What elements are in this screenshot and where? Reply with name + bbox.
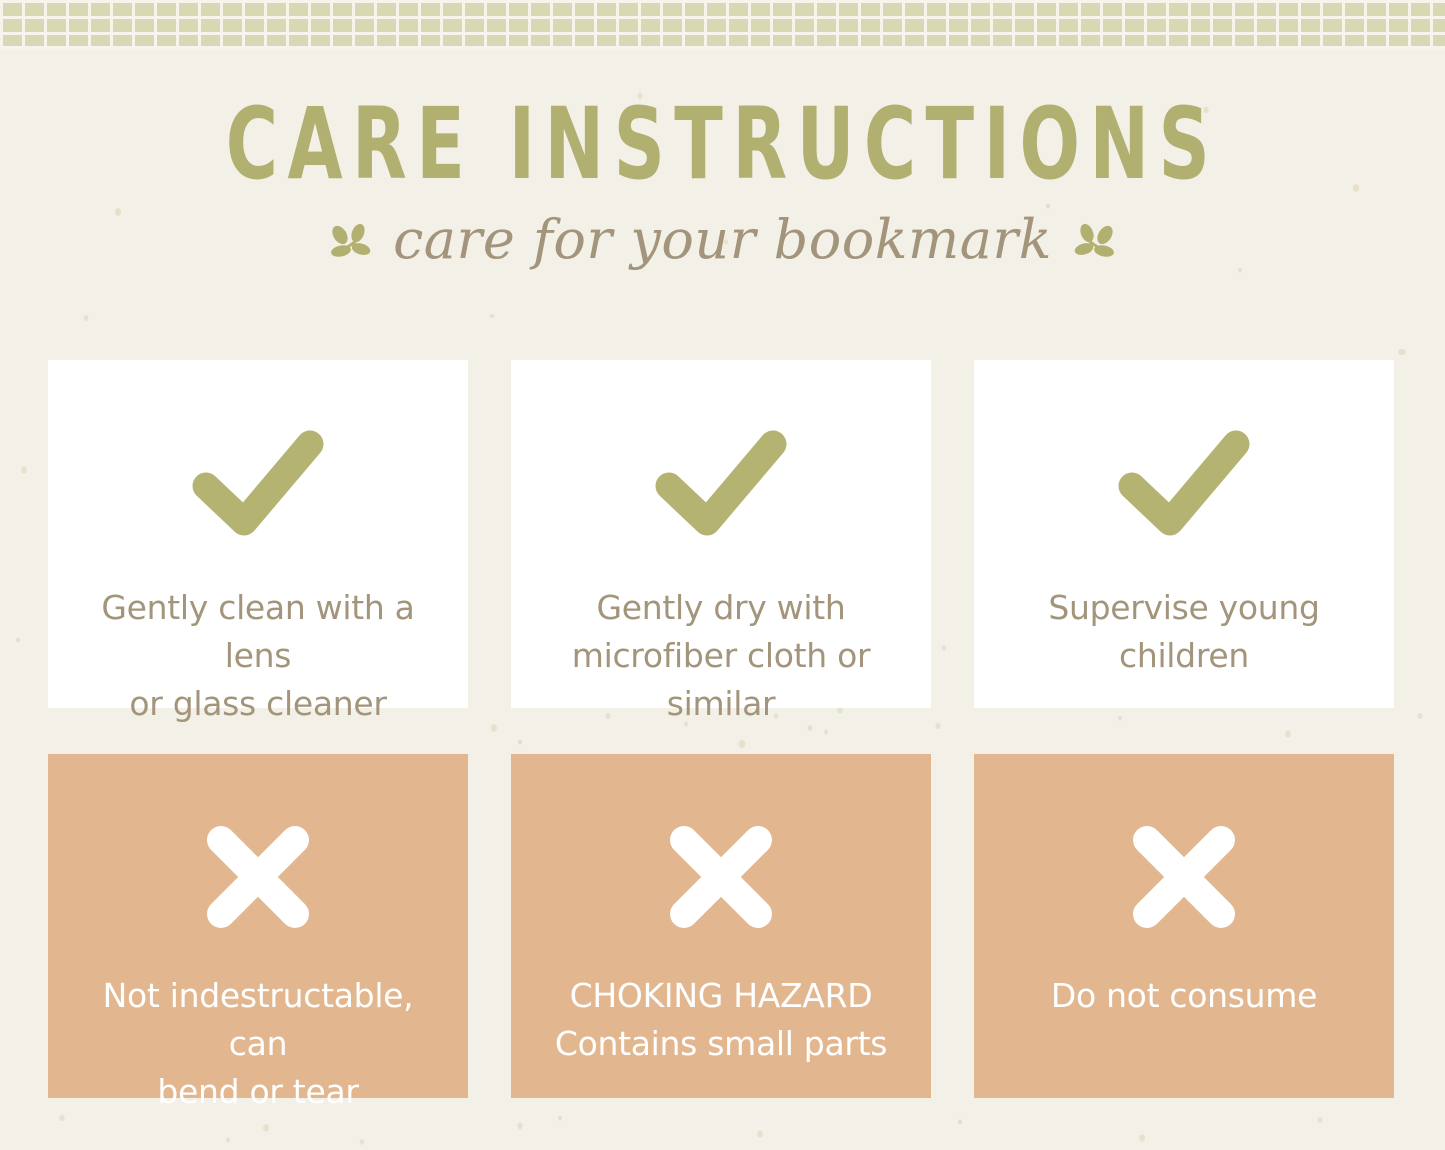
- leaf-sprig-icon: [327, 220, 371, 260]
- card-caption: Do not consume: [1051, 972, 1317, 1020]
- card-caption: Gently clean with a lens or glass cleane…: [72, 584, 444, 728]
- care-card-supervise: Supervise young children: [974, 360, 1394, 708]
- care-card-grid: Gently clean with a lens or glass cleane…: [48, 360, 1394, 1098]
- card-caption: Supervise young children: [998, 584, 1370, 680]
- top-grid-band: [0, 0, 1445, 50]
- card-caption: Not indestructable, can bend or tear: [72, 972, 444, 1116]
- x-icon: [666, 822, 776, 932]
- x-icon: [203, 822, 313, 932]
- care-card-clean: Gently clean with a lens or glass cleane…: [48, 360, 468, 708]
- check-icon: [192, 430, 324, 540]
- page-title: CARE INSTRUCTIONS: [101, 95, 1344, 194]
- header: CARE INSTRUCTIONS care for your bookmark: [0, 95, 1445, 267]
- card-caption: CHOKING HAZARD Contains small parts: [555, 972, 887, 1068]
- care-card-do-not-consume: Do not consume: [974, 754, 1394, 1098]
- care-card-not-indestructable: Not indestructable, can bend or tear: [48, 754, 468, 1098]
- page-subtitle: care for your bookmark: [393, 213, 1052, 267]
- card-caption: Gently dry with microfiber cloth or simi…: [535, 584, 907, 728]
- leaf-sprig-icon: [1074, 220, 1118, 260]
- x-icon: [1129, 822, 1239, 932]
- care-card-dry: Gently dry with microfiber cloth or simi…: [511, 360, 931, 708]
- subtitle-row: care for your bookmark: [0, 213, 1445, 267]
- care-card-choking-hazard: CHOKING HAZARD Contains small parts: [511, 754, 931, 1098]
- check-icon: [655, 430, 787, 540]
- check-icon: [1118, 430, 1250, 540]
